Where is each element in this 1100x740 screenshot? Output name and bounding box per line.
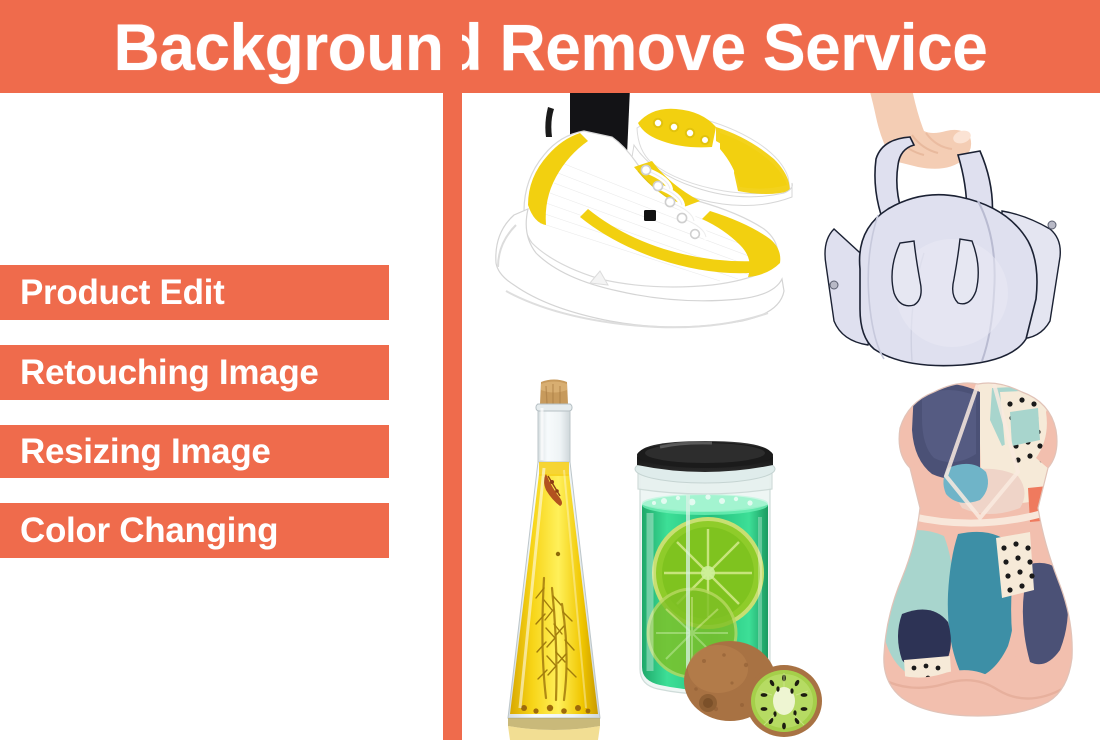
service-item-retouching-image[interactable]: Retouching Image: [0, 345, 389, 400]
product-image-lime-drink-jar: [612, 433, 822, 740]
product-image-lavender-handbag: [812, 93, 1100, 378]
service-item-label: Color Changing: [0, 513, 278, 548]
product-showcase: [462, 93, 1100, 740]
service-list: Product Edit Retouching Image Resizing I…: [0, 265, 389, 583]
service-item-label: Product Edit: [0, 275, 224, 310]
product-image-patterned-summer-dress: [862, 368, 1092, 740]
service-item-color-changing[interactable]: Color Changing: [0, 503, 389, 558]
service-item-label: Resizing Image: [0, 434, 271, 469]
header-banner: Background Remove Service: [0, 0, 1100, 93]
service-item-product-edit[interactable]: Product Edit: [0, 265, 389, 320]
page-title: Background Remove Service: [113, 14, 987, 80]
service-item-resizing-image[interactable]: Resizing Image: [0, 425, 389, 478]
poster-canvas: Background Remove Service Product Edit R…: [0, 0, 1100, 740]
product-image-infused-oil-bottle: [490, 378, 620, 740]
vertical-divider: [443, 0, 462, 740]
product-image-white-yellow-sneakers: [462, 93, 822, 343]
service-item-label: Retouching Image: [0, 355, 319, 390]
